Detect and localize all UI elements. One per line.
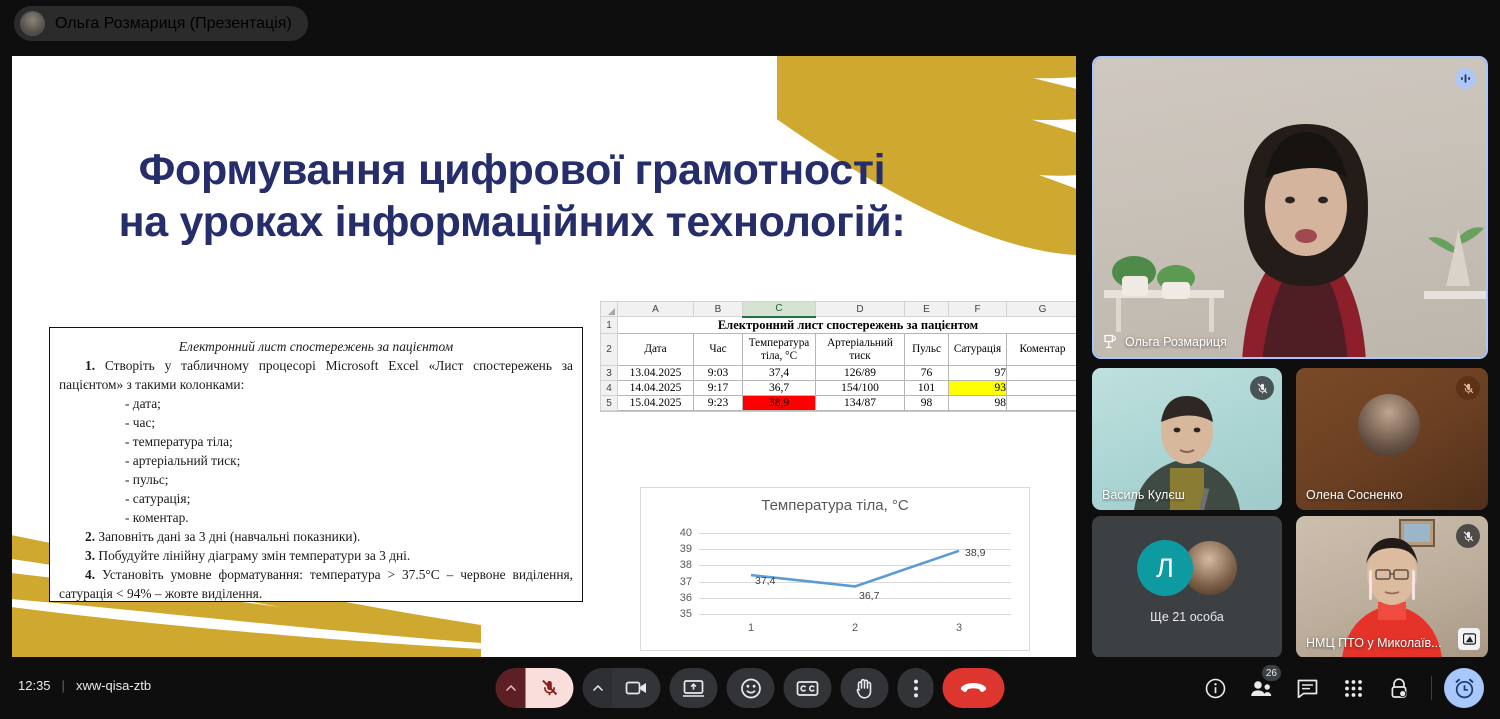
- task-bullet-2: - температура тіла;: [59, 432, 573, 451]
- slide-title-line-1: Формування цифрової грамотності: [12, 144, 1012, 196]
- chart-ytick: 39: [680, 543, 692, 555]
- mic-options-caret-icon[interactable]: [496, 668, 526, 708]
- table-row: 1 Електронний лист спостережень за паціє…: [601, 317, 1077, 334]
- cell-date-0[interactable]: 13.04.2025: [618, 366, 694, 381]
- presenter-name: Ольга Розмариця (Презентація): [55, 15, 292, 33]
- chart-ytick: 40: [680, 527, 692, 539]
- tile-label-3: Олена Сосненко: [1306, 488, 1403, 502]
- col-header-E[interactable]: E: [905, 302, 949, 317]
- picture-in-picture-icon[interactable]: [1458, 628, 1480, 650]
- video-camera-icon: [626, 680, 648, 696]
- raised-hand-icon: [855, 678, 875, 699]
- cell-header-bp[interactable]: Артеріальний тиск: [816, 334, 905, 366]
- speaker-silhouette: [1094, 58, 1488, 359]
- task-text-box: Електронний лист спостережень за пацієнт…: [49, 327, 583, 602]
- slide-title-line-2: на уроках інформаційних технологій:: [12, 196, 1012, 248]
- col-header-A[interactable]: A: [618, 302, 694, 317]
- alarm-clock-icon: [1453, 677, 1476, 700]
- timer-button[interactable]: [1444, 668, 1484, 708]
- apps-grid-icon: [1344, 679, 1363, 698]
- task-bullet-3: - артеріальний тиск;: [59, 451, 573, 470]
- task-bullet-5: - сатурація;: [59, 489, 573, 508]
- task-item-1: 1. Створіть у табличному процесорі Micro…: [59, 356, 573, 394]
- task-item-3: 3. Побудуйте лінійну діаграму змін темпе…: [59, 546, 573, 565]
- row-header-4[interactable]: 4: [601, 381, 618, 396]
- mic-muted-badge: [1250, 376, 1274, 400]
- select-all-corner[interactable]: [601, 302, 618, 317]
- cell-comment-0[interactable]: [1007, 366, 1077, 381]
- host-controls-button[interactable]: [1379, 668, 1419, 708]
- tile-name-5: НМЦ ПТО у Миколаїв...: [1306, 636, 1442, 650]
- chart-ytick: 35: [680, 608, 692, 620]
- closed-captions-icon: [797, 680, 819, 697]
- chart-xtick: 1: [748, 622, 754, 634]
- divider: [1431, 676, 1432, 700]
- col-header-F[interactable]: F: [949, 302, 1007, 317]
- presenting-icon: [1104, 334, 1117, 349]
- top-bar: Ольга Розмариця (Презентація): [0, 0, 1500, 47]
- activities-button[interactable]: [1333, 668, 1373, 708]
- present-screen-button[interactable]: [670, 668, 718, 708]
- temperature-line-chart[interactable]: Температура тіла, °C 35363738394012337,4…: [640, 487, 1030, 651]
- cell-comment-1[interactable]: [1007, 381, 1077, 396]
- cell-temp-1[interactable]: 36,7: [743, 381, 816, 396]
- mic-off-icon: [1462, 382, 1475, 395]
- tile-label-main: Ольга Розмариця: [1104, 334, 1227, 349]
- chart-ytick: 36: [680, 592, 692, 604]
- reactions-button[interactable]: [727, 668, 775, 708]
- emoji-smiley-icon: [740, 678, 761, 699]
- chat-button[interactable]: [1287, 668, 1327, 708]
- hang-up-icon: [961, 682, 987, 695]
- cell-header-temp[interactable]: Температура тіла, °C: [743, 334, 816, 366]
- chart-title: Температура тіла, °C: [641, 497, 1029, 514]
- lock-icon: [1389, 678, 1409, 699]
- audio-activity-icon: [1455, 68, 1476, 89]
- col-header-B[interactable]: B: [694, 302, 743, 317]
- chart-data-label: 38,9: [965, 547, 985, 559]
- people-count-badge: 26: [1262, 665, 1281, 681]
- camera-options-caret-icon[interactable]: [583, 668, 613, 708]
- cell-temp-0[interactable]: 37,4: [743, 366, 816, 381]
- cell-time-2[interactable]: 9:23: [694, 396, 743, 411]
- more-options-button[interactable]: [898, 668, 934, 708]
- people-icon: [1250, 679, 1273, 698]
- task-heading: Електронний лист спостережень за пацієнт…: [59, 337, 573, 356]
- call-controls: [496, 668, 1005, 708]
- cell-date-1[interactable]: 14.04.2025: [618, 381, 694, 396]
- cell-time-1[interactable]: 9:17: [694, 381, 743, 396]
- col-header-G[interactable]: G: [1007, 302, 1077, 317]
- cell-header-time[interactable]: Час: [694, 334, 743, 366]
- cell-bp-2[interactable]: 134/87: [816, 396, 905, 411]
- video-tile-more-people[interactable]: Л Ще 21 особа: [1092, 516, 1282, 658]
- video-tile-main-speaker[interactable]: Ольга Розмариця: [1092, 56, 1488, 359]
- end-call-button[interactable]: [943, 668, 1005, 708]
- cell-header-spo2[interactable]: Сатурація: [949, 334, 1007, 366]
- presenter-chip[interactable]: Ольга Розмариця (Презентація): [14, 6, 308, 41]
- mic-control-group[interactable]: [496, 668, 574, 708]
- mic-muted-badge: [1456, 376, 1480, 400]
- meeting-code[interactable]: xww-qisa-ztb: [76, 678, 151, 693]
- table-row: 5 15.04.2025 9:23 38,9 134/87 98 98: [601, 396, 1077, 411]
- task-bullet-4: - пульс;: [59, 470, 573, 489]
- shared-screen-slide[interactable]: Формування цифрової грамотності на урока…: [12, 56, 1076, 657]
- chart-gridline: [699, 614, 1011, 615]
- cell-spo2-0[interactable]: 97: [949, 366, 1007, 381]
- video-tile-participant-5[interactable]: НМЦ ПТО у Миколаїв...: [1296, 516, 1488, 658]
- avatar-initial: Л: [1137, 540, 1193, 596]
- camera-toggle-button[interactable]: [613, 668, 661, 708]
- people-button[interactable]: 26: [1241, 668, 1281, 708]
- row-header-2[interactable]: 2: [601, 334, 618, 366]
- captions-button[interactable]: [784, 668, 832, 708]
- mic-off-icon: [1462, 530, 1475, 543]
- meeting-details-button[interactable]: [1195, 668, 1235, 708]
- cell-bp-1[interactable]: 154/100: [816, 381, 905, 396]
- chart-ytick: 38: [680, 559, 692, 571]
- chat-bubble-icon: [1297, 679, 1318, 698]
- task-item-2: 2. Заповніть дані за 3 дні (навчальні по…: [59, 527, 573, 546]
- mic-toggle-button[interactable]: [526, 668, 574, 708]
- tile-label-5: НМЦ ПТО у Миколаїв...: [1306, 636, 1442, 650]
- chart-data-label: 36,7: [859, 590, 879, 602]
- right-tools: 26: [1195, 668, 1484, 708]
- info-icon: [1205, 678, 1226, 699]
- meeting-info: 12:35 | xww-qisa-ztb: [18, 678, 151, 693]
- tile-name-main: Ольга Розмариця: [1125, 335, 1227, 349]
- bottom-bar: 12:35 | xww-qisa-ztb: [0, 657, 1500, 719]
- camera-control-group[interactable]: [583, 668, 661, 708]
- cell-pulse-1[interactable]: 101: [905, 381, 949, 396]
- mic-off-icon: [1256, 382, 1269, 395]
- avatar: [1358, 394, 1420, 456]
- tile-name-3: Олена Сосненко: [1306, 488, 1403, 502]
- table-row: 4 14.04.2025 9:17 36,7 154/100 101 93: [601, 381, 1077, 396]
- page-title: Формування цифрової грамотності на урока…: [12, 144, 1012, 249]
- tile-label-2: Василь Кулєш: [1102, 488, 1185, 502]
- spreadsheet[interactable]: A B C D E F G 1 Електронний лист спостер…: [600, 301, 1076, 412]
- avatar: [20, 11, 45, 36]
- cell-date-2[interactable]: 15.04.2025: [618, 396, 694, 411]
- chart-series: [699, 533, 1011, 614]
- task-bullet-0: - дата;: [59, 394, 573, 413]
- mic-muted-badge: [1456, 524, 1480, 548]
- col-header-D[interactable]: D: [816, 302, 905, 317]
- col-header-C[interactable]: C: [743, 302, 816, 317]
- more-people-label: Ще 21 особа: [1092, 610, 1282, 624]
- video-tile-participant-2[interactable]: Василь Кулєш: [1092, 368, 1282, 510]
- cell-spo2-1[interactable]: 93: [949, 381, 1007, 396]
- row-header-1[interactable]: 1: [601, 317, 618, 334]
- task-item-4: 4. Установіть умовне форматування: темпе…: [59, 565, 573, 603]
- chart-ytick: 37: [680, 576, 692, 588]
- clock-time: 12:35: [18, 678, 51, 693]
- cell-time-0[interactable]: 9:03: [694, 366, 743, 381]
- spreadsheet-column-headers: A B C D E F G: [601, 302, 1077, 317]
- chart-data-label: 37,4: [755, 575, 775, 587]
- divider: |: [62, 678, 65, 693]
- cell-title[interactable]: Електронний лист спостережень за пацієнт…: [618, 317, 1077, 334]
- chart-xtick: 3: [956, 622, 962, 634]
- table-row: 2 Дата Час Температура тіла, °C Артеріал…: [601, 334, 1077, 366]
- cell-header-date[interactable]: Дата: [618, 334, 694, 366]
- row-header-3[interactable]: 3: [601, 366, 618, 381]
- cell-comment-2[interactable]: [1007, 396, 1077, 411]
- chart-plot-area: 35363738394012337,436,738,9: [699, 533, 1011, 614]
- tile-name-2: Василь Кулєш: [1102, 488, 1185, 502]
- task-bullet-1: - час;: [59, 413, 573, 432]
- cell-header-comment[interactable]: Коментар: [1007, 334, 1077, 366]
- table-row: 3 13.04.2025 9:03 37,4 126/89 76 97: [601, 366, 1077, 381]
- video-tile-participant-3[interactable]: Олена Сосненко: [1296, 368, 1488, 510]
- more-vertical-icon: [913, 679, 918, 698]
- cell-spo2-2[interactable]: 98: [949, 396, 1007, 411]
- cell-pulse-0[interactable]: 76: [905, 366, 949, 381]
- task-bullet-6: - коментар.: [59, 508, 573, 527]
- mic-off-icon: [540, 678, 560, 698]
- chart-xtick: 2: [852, 622, 858, 634]
- cell-temp-2[interactable]: 38,9: [743, 396, 816, 411]
- avatar-stack: Л: [1092, 540, 1282, 596]
- row-header-5[interactable]: 5: [601, 396, 618, 411]
- raise-hand-button[interactable]: [841, 668, 889, 708]
- present-screen-icon: [683, 679, 705, 698]
- cell-header-pulse[interactable]: Пульс: [905, 334, 949, 366]
- cell-pulse-2[interactable]: 98: [905, 396, 949, 411]
- cell-bp-0[interactable]: 126/89: [816, 366, 905, 381]
